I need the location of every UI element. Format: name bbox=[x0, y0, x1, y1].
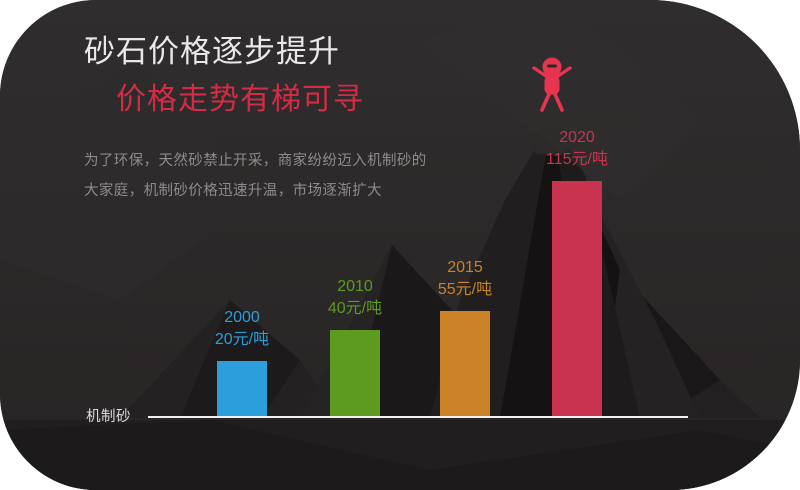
bar-2000[interactable] bbox=[217, 361, 267, 416]
bar-2015[interactable] bbox=[440, 311, 490, 416]
bar-price-2010: 40元/吨 bbox=[290, 298, 420, 320]
axis-label: 机制砂 bbox=[86, 405, 131, 426]
bar-label-2015: 2015 55元/吨 bbox=[400, 257, 530, 301]
bar-year-2000: 2000 bbox=[177, 307, 307, 329]
bar-2020[interactable] bbox=[552, 181, 602, 416]
axis-baseline bbox=[148, 416, 688, 418]
bar-price-2015: 55元/吨 bbox=[400, 279, 530, 301]
bar-price-2000: 20元/吨 bbox=[177, 329, 307, 351]
bar-label-2000: 2000 20元/吨 bbox=[177, 307, 307, 351]
bar-year-2020: 2020 bbox=[512, 127, 642, 149]
bar-label-2020: 2020 115元/吨 bbox=[512, 127, 642, 171]
bar-year-2015: 2015 bbox=[400, 257, 530, 279]
bar-chart: 2000 20元/吨 2010 40元/吨 2015 55元/吨 2020 11… bbox=[0, 0, 800, 490]
bar-price-2020: 115元/吨 bbox=[512, 149, 642, 171]
dark-panel: 砂石价格逐步提升 价格走势有梯可寻 为了环保，天然砂禁止开采，商家纷纷迈入机制砂… bbox=[0, 0, 800, 490]
celebrating-person-icon bbox=[529, 54, 575, 112]
bar-2010[interactable] bbox=[330, 330, 380, 416]
infographic-canvas: 砂石价格逐步提升 价格走势有梯可寻 为了环保，天然砂禁止开采，商家纷纷迈入机制砂… bbox=[0, 0, 800, 490]
